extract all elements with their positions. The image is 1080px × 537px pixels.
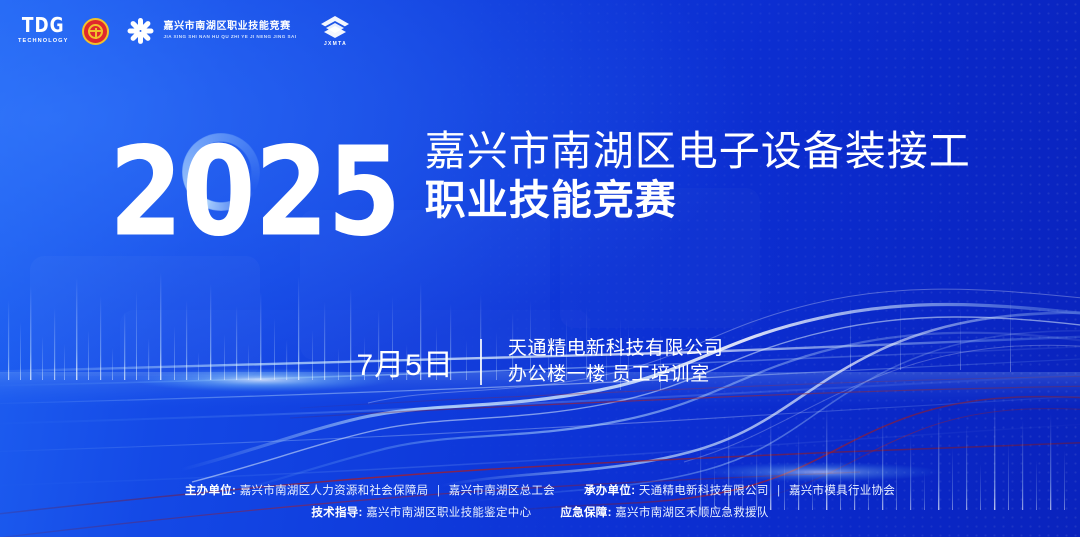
acftu-emblem-icon (68, 8, 109, 54)
footer-credits: 主办单位: 嘉兴市南湖区人力资源和社会保障局 | 嘉兴市南湖区总工会 承办单位:… (0, 481, 1080, 524)
meta-divider (480, 339, 482, 385)
tdg-logo-main-text: TDG (22, 16, 65, 36)
event-title-line2: 职业技能竞赛 (425, 176, 971, 225)
emergency-label: 应急保障: (560, 507, 611, 519)
footer-row-2: 技术指导: 嘉兴市南湖区职业技能鉴定中心 应急保障: 嘉兴市南湖区禾顺应急救援队 (0, 503, 1080, 525)
footer-separator: | (432, 485, 445, 497)
event-date: 7月5日 (357, 340, 454, 384)
header-logo-bar: TDG TECHNOLOGY 嘉兴市南湖区职业技能竞赛 JIA XING SHI… (18, 8, 352, 54)
organizer-label: 承办单位: (584, 485, 635, 497)
jxmta-logo-sub-text: JXMTA (324, 41, 347, 47)
event-meta-block: 7月5日 天通精电新科技有限公司 办公楼一楼 员工培训室 (0, 336, 1080, 387)
organizer-value-2: 嘉兴市模具行业协会 (789, 485, 895, 497)
tdg-logo-sub-text: TECHNOLOGY (18, 39, 68, 45)
event-year: 2025 (109, 134, 400, 251)
organizer-value: 天通精电新科技有限公司 (639, 485, 769, 497)
event-banner: TDG TECHNOLOGY 嘉兴市南湖区职业技能竞赛 JIA XING SHI… (0, 0, 1080, 537)
host-value: 嘉兴市南湖区人力资源和社会保障局 (240, 485, 429, 497)
tdg-logo: TDG TECHNOLOGY (18, 8, 68, 54)
jxmta-stacked-diamond-icon (320, 15, 350, 39)
event-venue-line2: 办公楼一楼 员工培训室 (508, 362, 724, 388)
emergency-value: 嘉兴市南湖区禾顺应急救援队 (615, 507, 768, 519)
footer-separator-2: | (772, 485, 785, 497)
tech-label: 技术指导: (311, 507, 362, 519)
host-value-2: 嘉兴市南湖区总工会 (449, 485, 555, 497)
jiaxing-skills-logo: 嘉兴市南湖区职业技能竞赛 JIA XING SHI NAN HU QU ZHI … (109, 8, 296, 54)
jiaxing-skills-pinyin-text: JIA XING SHI NAN HU QU ZHI YE JI NENG JI… (163, 35, 296, 40)
event-venue-line1: 天通精电新科技有限公司 (508, 336, 724, 362)
background-light-trails (0, 0, 1080, 537)
jiaxing-skills-cn-text: 嘉兴市南湖区职业技能竞赛 (163, 22, 296, 32)
host-label: 主办单位: (185, 485, 236, 497)
petal-burst-icon (125, 16, 155, 46)
main-title-block: 2025 嘉兴市南湖区电子设备装接工 职业技能竞赛 (0, 128, 1080, 233)
jxmta-logo: JXMTA (296, 8, 352, 54)
event-venue: 天通精电新科技有限公司 办公楼一楼 员工培训室 (508, 336, 724, 387)
footer-row-1: 主办单位: 嘉兴市南湖区人力资源和社会保障局 | 嘉兴市南湖区总工会 承办单位:… (0, 481, 1080, 503)
event-title-line1: 嘉兴市南湖区电子设备装接工 (425, 128, 971, 176)
tech-value: 嘉兴市南湖区职业技能鉴定中心 (366, 507, 531, 519)
